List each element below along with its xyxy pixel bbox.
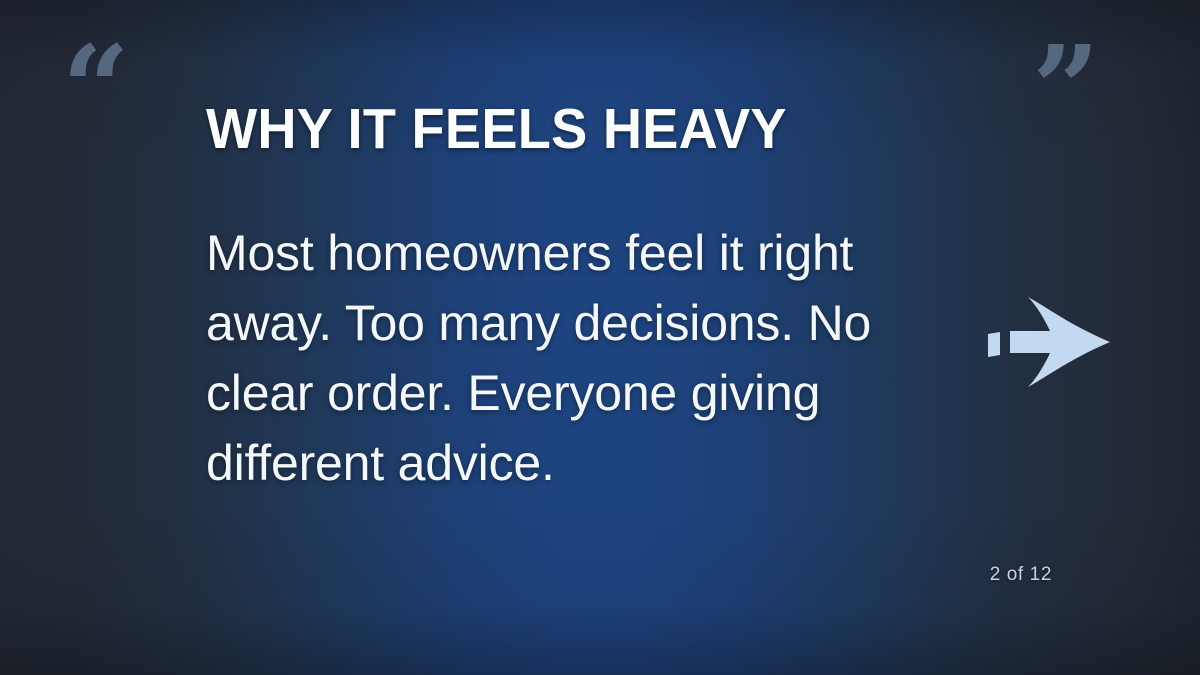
slide-body-text: Most homeowners feel it right away. Too … (206, 218, 936, 498)
right-arrow-icon (986, 296, 1112, 388)
presentation-slide: “ ” WHY IT FEELS HEAVY Most homeowners f… (0, 0, 1200, 675)
page-counter: 2 of 12 (0, 564, 1052, 586)
quote-close-icon: ” (1032, 30, 1096, 148)
quote-open-icon: “ (62, 30, 126, 148)
slide-content: “ ” WHY IT FEELS HEAVY Most homeowners f… (0, 0, 1200, 675)
slide-title: WHY IT FEELS HEAVY (206, 100, 787, 158)
